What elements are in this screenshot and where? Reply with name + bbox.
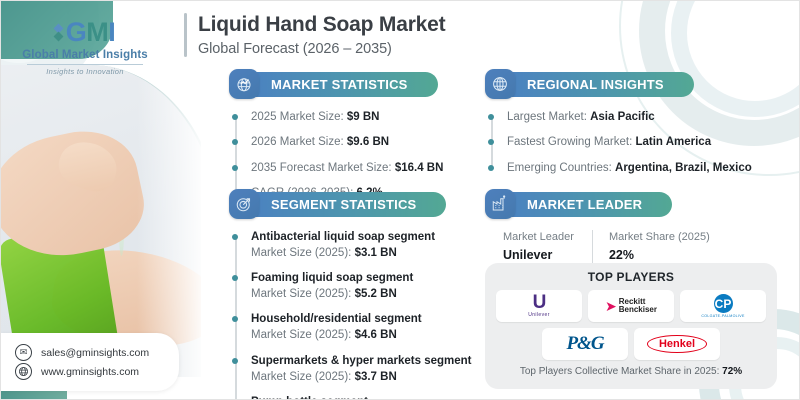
logo-letter-m: M bbox=[86, 17, 108, 47]
segment-name: Supermarkets & hyper markets segment bbox=[251, 353, 479, 369]
unilever-mark: U bbox=[533, 294, 546, 311]
contact-website[interactable]: www.gminsights.com bbox=[41, 366, 139, 378]
market-share-cell: Market Share (2025) 22% bbox=[592, 230, 728, 264]
infographic-canvas: GMI Global Market Insights Insights to I… bbox=[0, 0, 800, 400]
player-logo-henkel[interactable]: Henkel bbox=[634, 328, 720, 360]
logo-divider bbox=[27, 64, 143, 65]
segment-size-value: $5.2 BN bbox=[355, 288, 397, 300]
player-logo-pg[interactable]: P&G bbox=[542, 328, 628, 360]
segment-size-label: Market Size (2025): bbox=[251, 288, 351, 300]
top-players-logo-grid: U Unilever ➤ Reckitt Benckiser CP COLGAT… bbox=[495, 290, 767, 360]
section-market-leader: MARKET LEADER Market Leader Unilever Mar… bbox=[485, 189, 781, 264]
top-players-footer: Top Players Collective Market Share in 2… bbox=[495, 366, 767, 377]
segment-size-value: $3.1 BN bbox=[355, 247, 397, 259]
segment-name: Household/residential segment bbox=[251, 311, 479, 327]
market-share-value: 22% bbox=[609, 246, 710, 264]
diamond-icon bbox=[55, 25, 62, 40]
list-item: Household/residential segment Market Siz… bbox=[251, 311, 479, 343]
segment-size-label: Market Size (2025): bbox=[251, 371, 351, 383]
market-leader-value: Unilever bbox=[503, 246, 574, 264]
factory-icon bbox=[485, 189, 515, 219]
stat-value: Latin America bbox=[635, 136, 711, 148]
market-leader-caption: Market Leader bbox=[503, 230, 574, 246]
contact-email[interactable]: sales@gminsights.com bbox=[41, 347, 149, 359]
contact-card: ✉ sales@gminsights.com www.gminsights.co… bbox=[1, 333, 179, 391]
contact-email-row[interactable]: ✉ sales@gminsights.com bbox=[15, 344, 167, 361]
page-title-block: Liquid Hand Soap Market Global Forecast … bbox=[184, 13, 445, 57]
market-statistics-list: 2025 Market Size: $9 BN 2026 Market Size… bbox=[229, 109, 469, 201]
segment-statistics-label: SEGMENT STATISTICS bbox=[255, 192, 446, 217]
segment-name: Antibacterial liquid soap segment bbox=[251, 229, 479, 245]
segment-size-value: $3.7 BN bbox=[355, 371, 397, 383]
unilever-wordmark: Unilever bbox=[528, 312, 550, 318]
gmi-logo: GMI Global Market Insights Insights to I… bbox=[17, 19, 153, 76]
logo-letter-i: I bbox=[108, 17, 115, 47]
logo-letter-g: G bbox=[66, 17, 87, 47]
list-item: 2025 Market Size: $9 BN bbox=[251, 109, 469, 125]
stat-label: Emerging Countries: bbox=[507, 162, 612, 174]
top-players-title: TOP PLAYERS bbox=[495, 270, 767, 284]
stat-label: 2035 Forecast Market Size: bbox=[251, 162, 392, 174]
list-item: Fastest Growing Market: Latin America bbox=[507, 134, 775, 150]
colgate-mark: CP bbox=[714, 294, 733, 313]
pg-mark: P&G bbox=[566, 333, 603, 355]
logo-subtitle: Global Market Insights bbox=[17, 49, 153, 61]
logo-tagline: Insights to Innovation bbox=[17, 67, 153, 76]
list-item: Emerging Countries: Argentina, Brazil, M… bbox=[507, 160, 775, 176]
regional-insights-label: REGIONAL INSIGHTS bbox=[511, 72, 694, 97]
section-regional-insights: REGIONAL INSIGHTS Largest Market: Asia P… bbox=[485, 69, 775, 176]
envelope-icon: ✉ bbox=[15, 344, 32, 361]
stat-label: Largest Market: bbox=[507, 111, 587, 123]
list-item: Antibacterial liquid soap segment Market… bbox=[251, 229, 479, 261]
page-title: Liquid Hand Soap Market bbox=[198, 13, 445, 37]
photo-fade-overlay bbox=[1, 47, 201, 377]
reckitt-line2: Benckiser bbox=[619, 305, 657, 314]
top-players-panel: TOP PLAYERS U Unilever ➤ Reckitt Benckis… bbox=[485, 263, 777, 389]
market-statistics-label: MARKET STATISTICS bbox=[255, 72, 438, 97]
segment-size-label: Market Size (2025): bbox=[251, 329, 351, 341]
title-accent-bar bbox=[184, 13, 187, 57]
globe-icon bbox=[485, 69, 515, 99]
list-item: Foaming liquid soap segment Market Size … bbox=[251, 270, 479, 302]
market-statistics-header: MARKET STATISTICS bbox=[229, 69, 469, 99]
market-leader-details: Market Leader Unilever Market Share (202… bbox=[485, 230, 781, 264]
player-logo-reckitt-benckiser[interactable]: ➤ Reckitt Benckiser bbox=[588, 290, 674, 322]
page-subtitle: Global Forecast (2026 – 2035) bbox=[198, 41, 445, 57]
list-item: Largest Market: Asia Pacific bbox=[507, 109, 775, 125]
reckitt-arrow-icon: ➤ bbox=[605, 299, 617, 313]
henkel-mark: Henkel bbox=[647, 335, 707, 353]
stat-label: 2025 Market Size: bbox=[251, 111, 344, 123]
segment-statistics-list: Antibacterial liquid soap segment Market… bbox=[229, 229, 479, 400]
segment-size-label: Market Size (2025): bbox=[251, 247, 351, 259]
contact-website-row[interactable]: www.gminsights.com bbox=[15, 363, 167, 380]
regional-insights-list: Largest Market: Asia Pacific Fastest Gro… bbox=[485, 109, 775, 176]
segment-name: Foaming liquid soap segment bbox=[251, 270, 479, 286]
market-leader-header: MARKET LEADER bbox=[485, 189, 781, 219]
stat-value: Asia Pacific bbox=[590, 111, 655, 123]
segment-size-value: $4.6 BN bbox=[355, 329, 397, 341]
regional-insights-header: REGIONAL INSIGHTS bbox=[485, 69, 775, 99]
globe-icon bbox=[15, 363, 32, 380]
stat-label: Fastest Growing Market: bbox=[507, 136, 632, 148]
globe-chart-icon bbox=[229, 69, 259, 99]
list-item: Pump bottle segment Market Size (2025): … bbox=[251, 394, 479, 400]
timeline-rail bbox=[235, 115, 237, 193]
logo-wordmark: GMI bbox=[17, 19, 153, 46]
section-segment-statistics: SEGMENT STATISTICS Antibacterial liquid … bbox=[229, 189, 479, 400]
market-leader-label: MARKET LEADER bbox=[511, 192, 672, 217]
list-item: 2026 Market Size: $9.6 BN bbox=[251, 134, 469, 150]
section-market-statistics: MARKET STATISTICS 2025 Market Size: $9 B… bbox=[229, 69, 469, 201]
segment-name: Pump bottle segment bbox=[251, 394, 479, 400]
stat-value: Argentina, Brazil, Mexico bbox=[615, 162, 752, 174]
player-logo-colgate-palmolive[interactable]: CP COLGATE-PALMOLIVE bbox=[680, 290, 766, 322]
market-leader-name-cell: Market Leader Unilever bbox=[503, 230, 592, 264]
list-item: Supermarkets & hyper markets segment Mar… bbox=[251, 353, 479, 385]
player-logo-unilever[interactable]: U Unilever bbox=[496, 290, 582, 322]
target-arrow-icon bbox=[229, 189, 259, 219]
market-share-caption: Market Share (2025) bbox=[609, 230, 710, 246]
stat-value: $16.4 BN bbox=[395, 162, 444, 174]
hero-photo bbox=[1, 47, 201, 377]
collective-share-value: 72% bbox=[722, 366, 742, 377]
stat-value: $9.6 BN bbox=[347, 136, 389, 148]
list-item: 2035 Forecast Market Size: $16.4 BN bbox=[251, 160, 469, 176]
stat-label: 2026 Market Size: bbox=[251, 136, 344, 148]
colgate-wordmark: COLGATE-PALMOLIVE bbox=[701, 314, 744, 318]
segment-statistics-header: SEGMENT STATISTICS bbox=[229, 189, 479, 219]
collective-share-label: Top Players Collective Market Share in 2… bbox=[520, 366, 720, 377]
stat-value: $9 BN bbox=[347, 111, 380, 123]
